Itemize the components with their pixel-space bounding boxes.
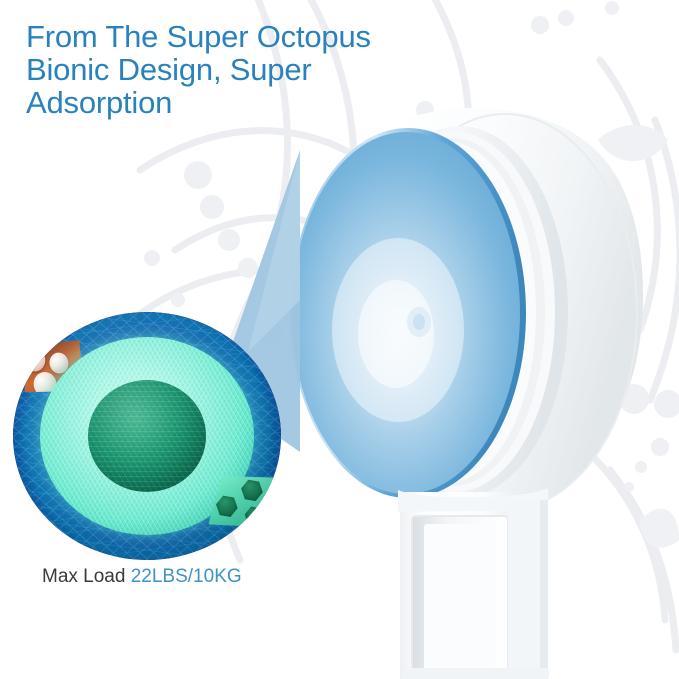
bionic-micro-structure-inset (13, 312, 281, 560)
inset-shading (13, 312, 281, 560)
max-load-caption: Max Load 22LBS/10KG (42, 565, 242, 589)
max-load-value: 22LBS/10KG (131, 566, 242, 587)
inset-circle (13, 312, 281, 560)
max-load-label: Max Load (42, 566, 131, 587)
product-feature-image: From The Super Octopus Bionic Design, Su… (0, 0, 679, 679)
page-title: From The Super Octopus Bionic Design, Su… (26, 20, 546, 119)
